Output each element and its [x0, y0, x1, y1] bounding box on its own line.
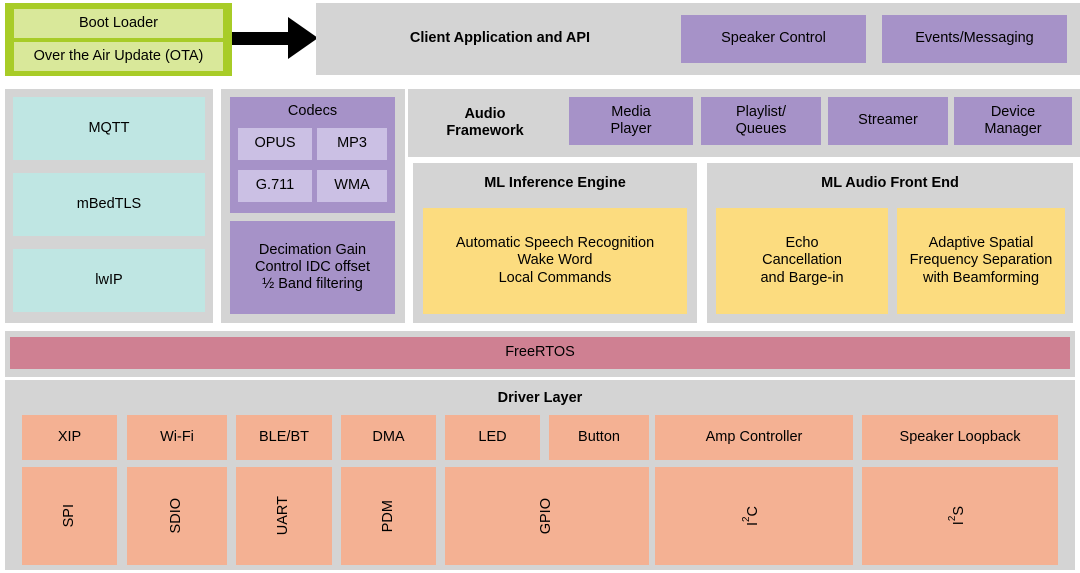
media-player-line2: Player	[610, 121, 651, 138]
speaker-control-module[interactable]: Speaker Control	[681, 15, 866, 63]
architecture-diagram: Boot Loader Over the Air Update (OTA) Cl…	[0, 0, 1080, 573]
codec-g711-box[interactable]: G.711	[238, 170, 312, 202]
echo-cancellation-block[interactable]: Echo Cancellation and Barge-in	[716, 208, 888, 314]
codecs-title: Codecs	[230, 99, 395, 125]
boot-loader-box[interactable]: Boot Loader	[14, 9, 223, 38]
driver-i2c-label-tail: C	[745, 506, 761, 516]
codec-mp3-box[interactable]: MP3	[317, 128, 387, 160]
adaptive-spatial-line-3: with Beamforming	[923, 270, 1039, 287]
driver-gpio-box[interactable]: GPIO	[445, 467, 649, 565]
media-player-module[interactable]: Media Player	[569, 97, 693, 145]
right-arrow-icon	[232, 32, 290, 45]
ml-inference-line-3: Local Commands	[499, 270, 612, 287]
driver-button-box[interactable]: Button	[549, 415, 649, 460]
codec-wma-box[interactable]: WMA	[317, 170, 387, 202]
driver-pdm-label: PDM	[380, 500, 397, 532]
lwip-box[interactable]: lwIP	[13, 249, 205, 312]
echo-cancellation-line-1: Echo	[785, 235, 818, 252]
media-player-line1: Media	[611, 104, 651, 121]
ml-inference-line-2: Wake Word	[518, 252, 593, 269]
driver-i2s-label: I2S	[951, 506, 968, 525]
driver-pdm-box[interactable]: PDM	[341, 467, 436, 565]
ml-inference-line-1: Automatic Speech Recognition	[456, 235, 654, 252]
ml-audio-front-end-title: ML Audio Front End	[707, 170, 1073, 198]
freertos-bar[interactable]: FreeRTOS	[10, 337, 1070, 369]
right-arrow-head-icon	[288, 17, 318, 59]
audio-framework-title-line2: Framework	[446, 123, 523, 140]
driver-dma-box[interactable]: DMA	[341, 415, 436, 460]
driver-i2c-label-main: I	[745, 522, 761, 526]
adaptive-spatial-line-2: Frequency Separation	[910, 252, 1053, 269]
playlist-queues-line2: Queues	[736, 121, 787, 138]
adaptive-spatial-block[interactable]: Adaptive Spatial Frequency Separation wi…	[897, 208, 1065, 314]
driver-spi-label: SPI	[61, 504, 78, 527]
playlist-queues-line1: Playlist/	[736, 104, 786, 121]
decimation-line-1: Decimation Gain	[259, 242, 366, 259]
driver-layer-title: Driver Layer	[5, 385, 1075, 413]
driver-uart-box[interactable]: UART	[236, 467, 332, 565]
driver-uart-label: UART	[275, 496, 292, 535]
driver-i2s-label-sup: 2	[948, 516, 959, 521]
audio-framework-title-line1: Audio	[464, 106, 505, 123]
echo-cancellation-line-2: Cancellation	[762, 252, 842, 269]
driver-i2c-box[interactable]: I2C	[655, 467, 853, 565]
driver-xip-box[interactable]: XIP	[22, 415, 117, 460]
audio-framework-title: Audio Framework	[420, 89, 550, 157]
driver-wifi-box[interactable]: Wi-Fi	[127, 415, 227, 460]
driver-i2c-label: I2C	[745, 506, 762, 526]
driver-led-box[interactable]: LED	[445, 415, 540, 460]
adaptive-spatial-line-1: Adaptive Spatial	[929, 235, 1034, 252]
codec-opus-box[interactable]: OPUS	[238, 128, 312, 160]
driver-amp-controller-box[interactable]: Amp Controller	[655, 415, 853, 460]
device-manager-module[interactable]: Device Manager	[954, 97, 1072, 145]
streamer-module[interactable]: Streamer	[828, 97, 948, 145]
driver-i2c-label-sup: 2	[742, 516, 753, 521]
driver-sdio-label: SDIO	[168, 498, 185, 533]
ml-inference-title: ML Inference Engine	[413, 170, 697, 198]
ml-inference-block[interactable]: Automatic Speech Recognition Wake Word L…	[423, 208, 687, 314]
driver-sdio-box[interactable]: SDIO	[127, 467, 227, 565]
driver-i2s-box[interactable]: I2S	[862, 467, 1058, 565]
driver-speaker-loopback-box[interactable]: Speaker Loopback	[862, 415, 1058, 460]
echo-cancellation-line-3: and Barge-in	[760, 270, 843, 287]
client-application-title: Client Application and API	[340, 3, 660, 75]
ota-update-box[interactable]: Over the Air Update (OTA)	[14, 42, 223, 71]
driver-spi-box[interactable]: SPI	[22, 467, 117, 565]
driver-gpio-label: GPIO	[538, 498, 555, 534]
driver-i2s-label-main: I	[951, 522, 967, 526]
device-manager-line2: Manager	[984, 121, 1041, 138]
mqtt-box[interactable]: MQTT	[13, 97, 205, 160]
mbedtls-box[interactable]: mBedTLS	[13, 173, 205, 236]
events-messaging-module[interactable]: Events/Messaging	[882, 15, 1067, 63]
playlist-queues-module[interactable]: Playlist/ Queues	[701, 97, 821, 145]
driver-i2s-label-tail: S	[951, 506, 967, 516]
decimation-line-2: Control IDC offset	[255, 259, 370, 276]
driver-ble-bt-box[interactable]: BLE/BT	[236, 415, 332, 460]
device-manager-line1: Device	[991, 104, 1035, 121]
decimation-gain-block[interactable]: Decimation Gain Control IDC offset ½ Ban…	[230, 221, 395, 314]
decimation-line-3: ½ Band filtering	[262, 276, 363, 293]
streamer-line1: Streamer	[858, 112, 918, 129]
